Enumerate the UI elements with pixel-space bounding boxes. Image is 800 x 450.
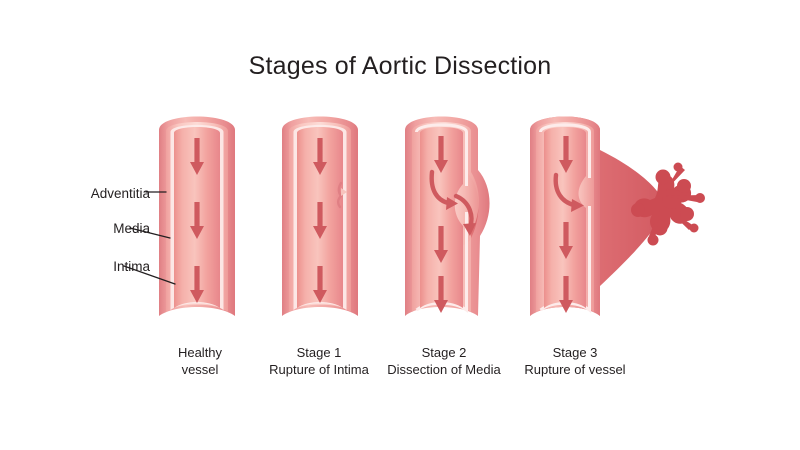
panel-stage-1 (282, 117, 358, 317)
aortic-dissection-illustration (0, 0, 800, 450)
figure-canvas: Stages of Aortic Dissection Adventitia M… (0, 0, 800, 450)
panel-healthy-vessel (159, 117, 235, 317)
panel-stage-2 (405, 117, 490, 317)
panel-stage-3 (530, 117, 705, 317)
